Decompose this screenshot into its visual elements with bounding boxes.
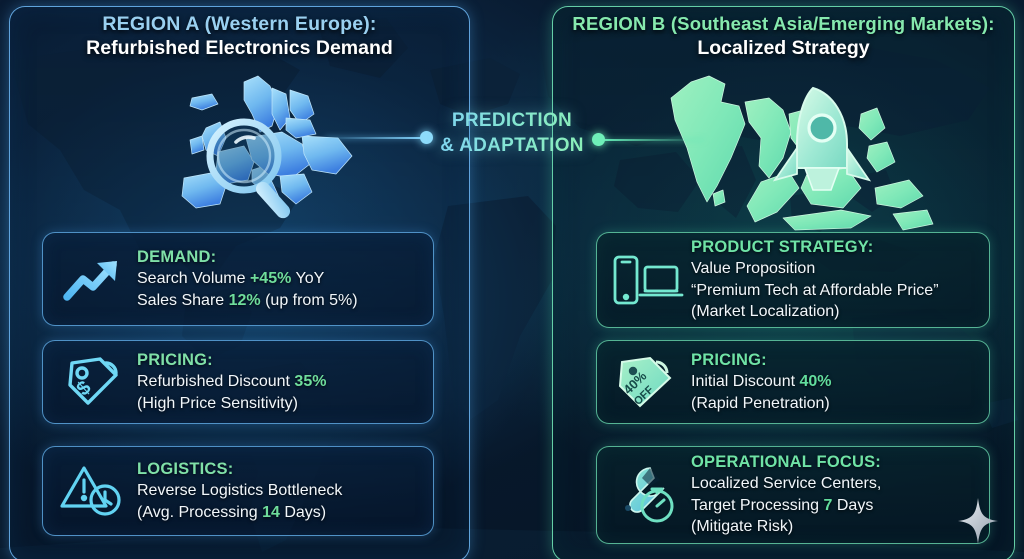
- card-pricing-a-line-2: (High Price Sensitivity): [137, 393, 421, 415]
- panel-a-header: REGION A (Western Europe): Refurbished E…: [9, 12, 470, 61]
- card-pricing-b-line-1: Initial Discount 40%: [691, 371, 977, 393]
- connector-dot-right: [592, 133, 605, 146]
- card-product-strategy-line-1: Value Proposition: [691, 258, 977, 280]
- panel-b-title-line1: REGION B (Southeast Asia/Emerging Market…: [552, 12, 1015, 36]
- panel-b-header: REGION B (Southeast Asia/Emerging Market…: [552, 12, 1015, 61]
- card-product-strategy-text: PRODUCT STRATEGY: Value Proposition “Pre…: [691, 237, 977, 323]
- card-logistics-title: LOGISTICS:: [137, 459, 421, 480]
- card-logistics[interactable]: LOGISTICS: Reverse Logistics Bottleneck …: [42, 446, 434, 536]
- center-line1: PREDICTION: [432, 108, 592, 133]
- card-product-strategy-line-2: “Premium Tech at Affordable Price”: [691, 280, 977, 302]
- center-prediction-label: PREDICTION & ADAPTATION: [432, 108, 592, 158]
- center-line2: & ADAPTATION: [432, 133, 592, 158]
- wrench-stopwatch-icon: [609, 463, 685, 527]
- card-demand-line-1: Search Volume +45% YoY: [137, 268, 421, 290]
- panel-a-title-line2: Refurbished Electronics Demand: [9, 36, 470, 61]
- card-pricing-a-line-1: Refurbished Discount 35%: [137, 371, 421, 393]
- connector-line-left: [325, 137, 421, 140]
- southeast-asia-map-rocket-icon: [665, 62, 935, 237]
- card-logistics-text: LOGISTICS: Reverse Logistics Bottleneck …: [137, 459, 421, 523]
- card-operational-focus[interactable]: OPERATIONAL FOCUS: Localized Service Cen…: [596, 446, 990, 544]
- card-operational-focus-title: OPERATIONAL FOCUS:: [691, 452, 977, 473]
- card-operational-focus-line-3: (Mitigate Risk): [691, 516, 977, 538]
- card-product-strategy-title: PRODUCT STRATEGY:: [691, 237, 977, 258]
- trend-up-arrow-icon: [55, 247, 131, 311]
- card-pricing-a-text: PRICING: Refurbished Discount 35% (High …: [137, 350, 421, 414]
- infographic-canvas: REGION A (Western Europe): Refurbished E…: [0, 0, 1024, 559]
- europe-map-magnifier-icon: [140, 70, 360, 230]
- card-pricing-b-text: PRICING: Initial Discount 40% (Rapid Pen…: [691, 350, 977, 414]
- card-product-strategy-line-3: (Market Localization): [691, 301, 977, 323]
- card-operational-focus-line-1: Localized Service Centers,: [691, 473, 977, 495]
- card-demand[interactable]: DEMAND: Search Volume +45% YoY Sales Sha…: [42, 232, 434, 326]
- phone-laptop-icon: [609, 248, 685, 312]
- card-pricing-a[interactable]: $ PRICING: Refurbished Discount 35% (Hig…: [42, 340, 434, 424]
- card-operational-focus-line-2: Target Processing 7 Days: [691, 495, 977, 517]
- warning-clock-icon: [55, 459, 131, 523]
- card-product-strategy[interactable]: PRODUCT STRATEGY: Value Proposition “Pre…: [596, 232, 990, 328]
- discount-tag-40-off-icon: 40% OFF: [609, 350, 685, 414]
- connector-line-right: [604, 139, 704, 142]
- sparkle-diamond-icon: [958, 498, 998, 544]
- price-tag-dollar-icon: $: [55, 350, 131, 414]
- panel-b-title-line2: Localized Strategy: [552, 36, 1015, 61]
- card-pricing-a-title: PRICING:: [137, 350, 421, 371]
- card-logistics-line-2: (Avg. Processing 14 Days): [137, 502, 421, 524]
- panel-a-title-line1: REGION A (Western Europe):: [9, 12, 470, 36]
- card-pricing-b-line-2: (Rapid Penetration): [691, 393, 977, 415]
- card-demand-text: DEMAND: Search Volume +45% YoY Sales Sha…: [137, 247, 421, 311]
- card-pricing-b-title: PRICING:: [691, 350, 977, 371]
- card-logistics-line-1: Reverse Logistics Bottleneck: [137, 480, 421, 502]
- card-operational-focus-text: OPERATIONAL FOCUS: Localized Service Cen…: [691, 452, 977, 538]
- card-pricing-b[interactable]: 40% OFF PRICING: Initial Discount 40% (R…: [596, 340, 990, 424]
- card-demand-line-2: Sales Share 12% (up from 5%): [137, 290, 421, 312]
- card-demand-title: DEMAND:: [137, 247, 421, 268]
